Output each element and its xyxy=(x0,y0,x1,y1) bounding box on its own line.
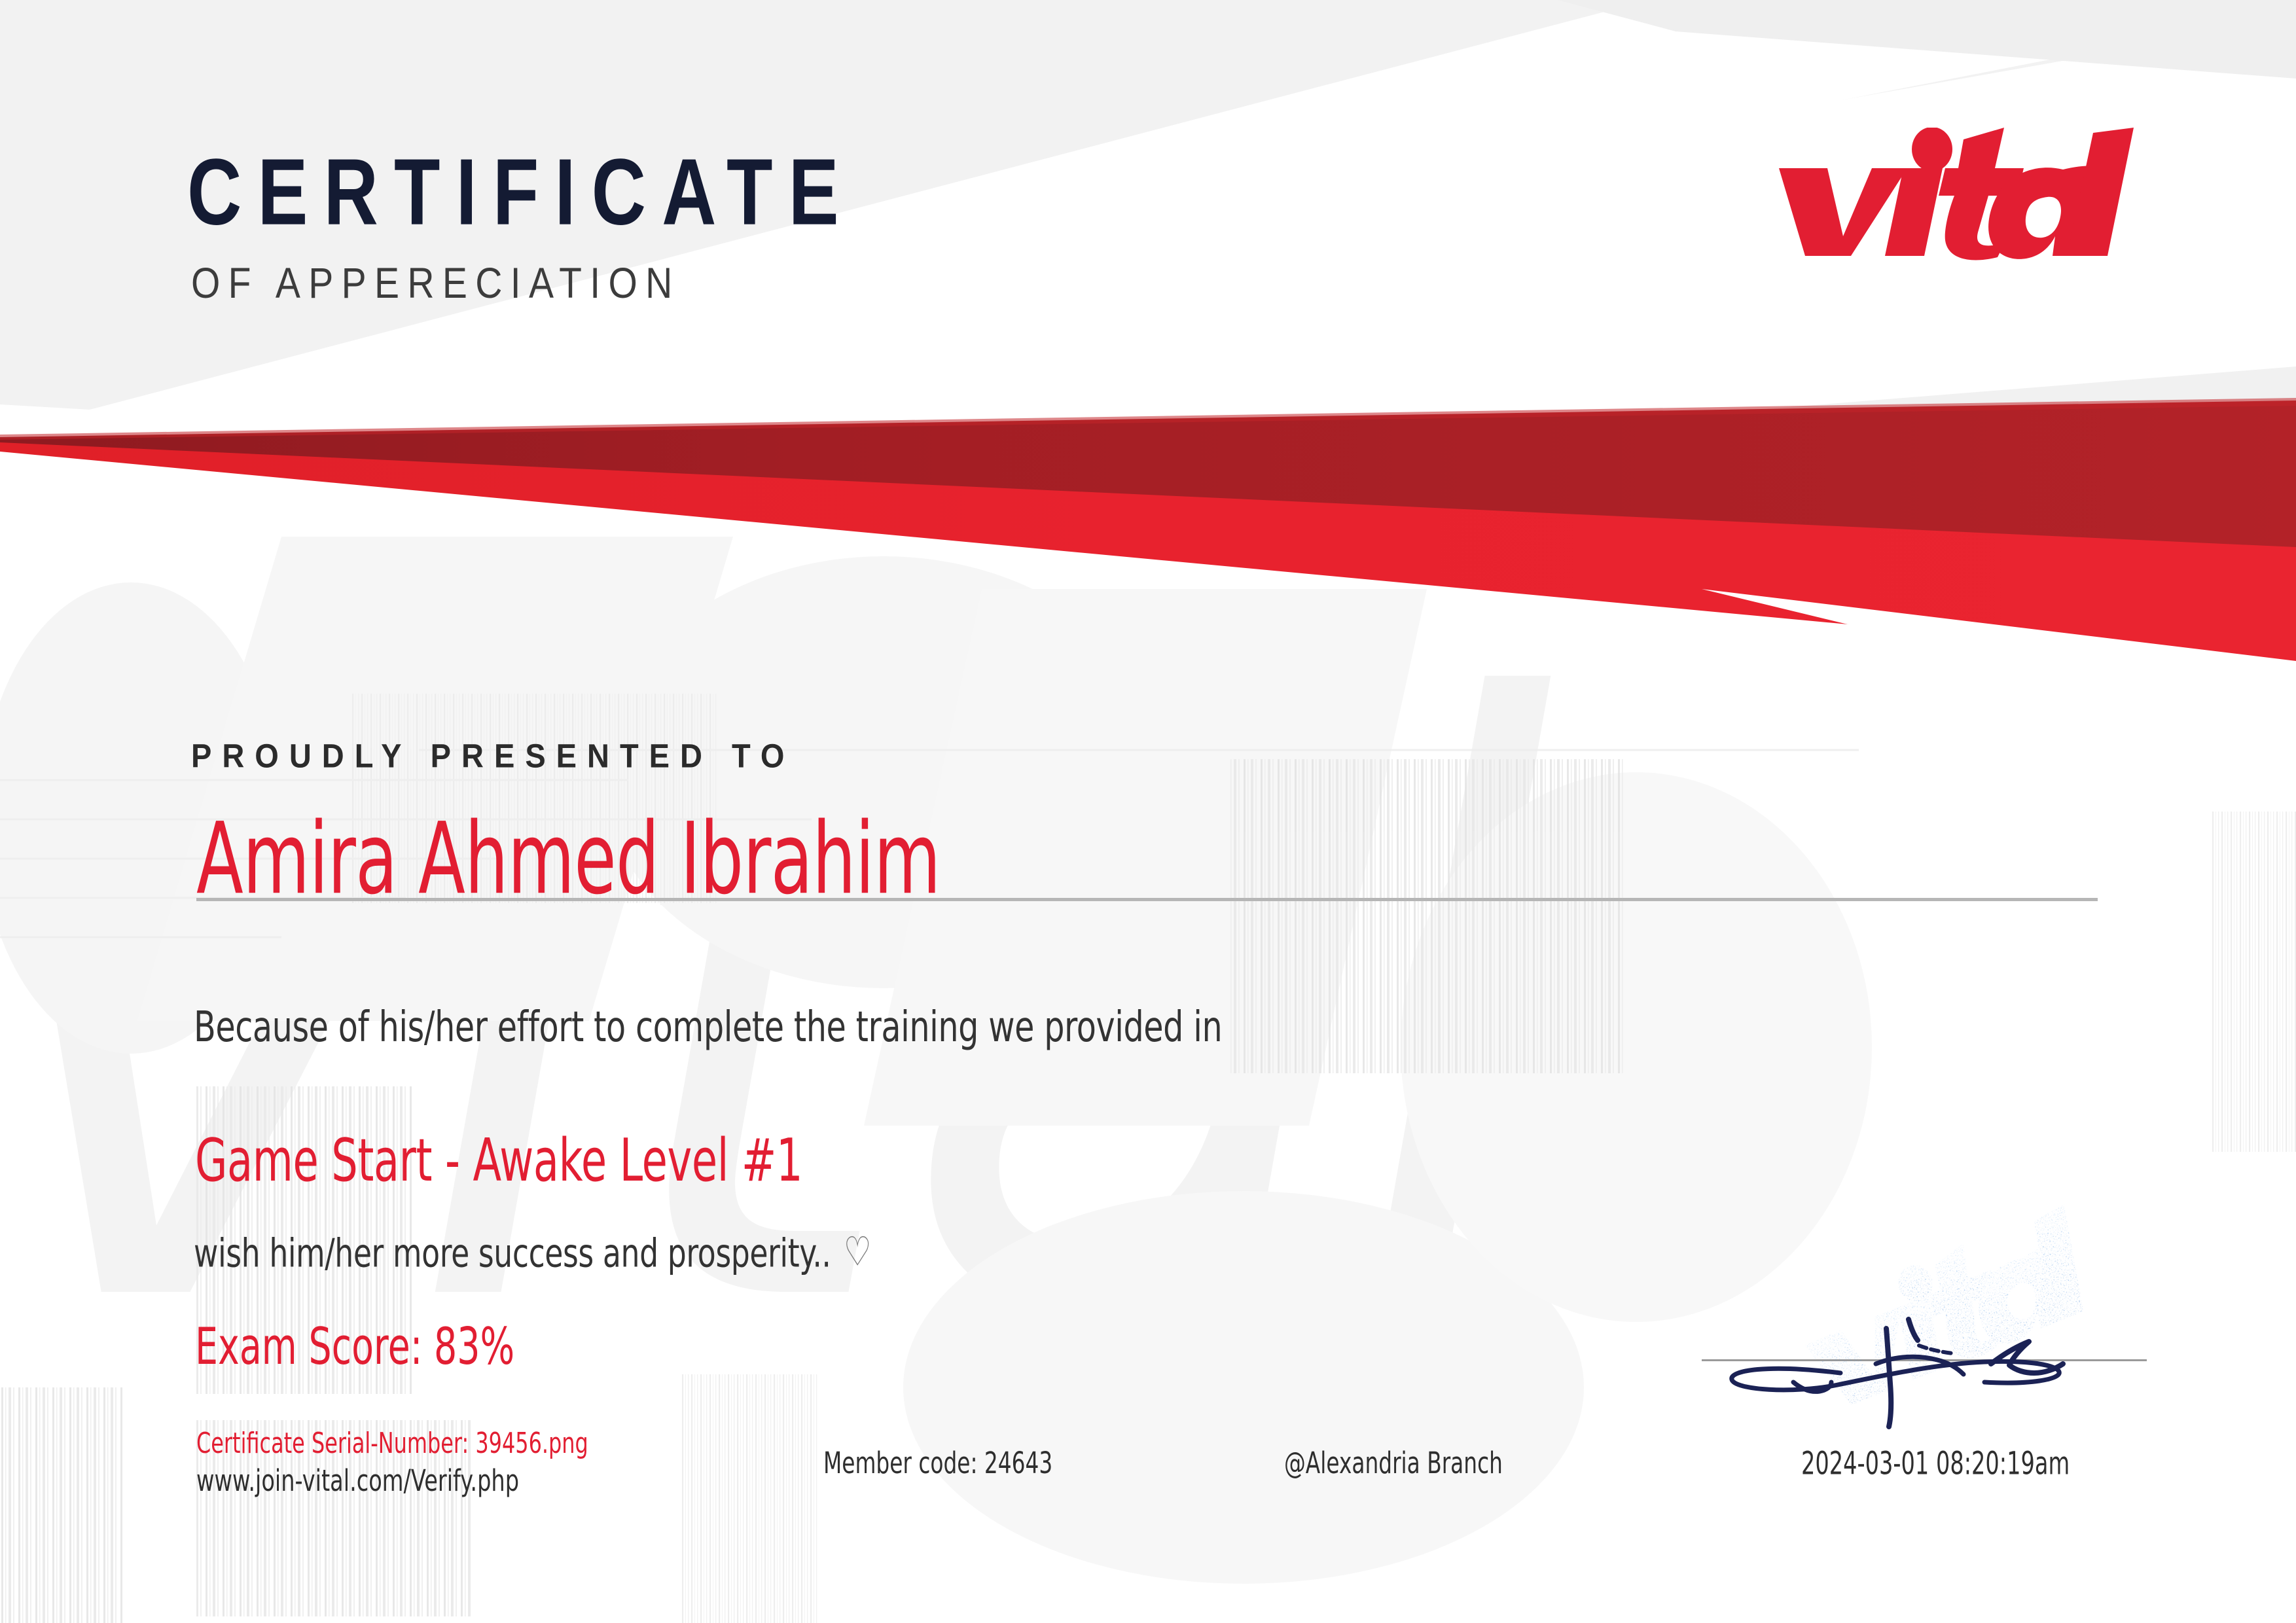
vital-logo xyxy=(1767,128,2134,265)
approval-stamp-and-signature xyxy=(1689,1204,2147,1466)
certificate-canvas: vital xyxy=(0,0,2296,1623)
vital-logo-icon xyxy=(1767,128,2134,265)
